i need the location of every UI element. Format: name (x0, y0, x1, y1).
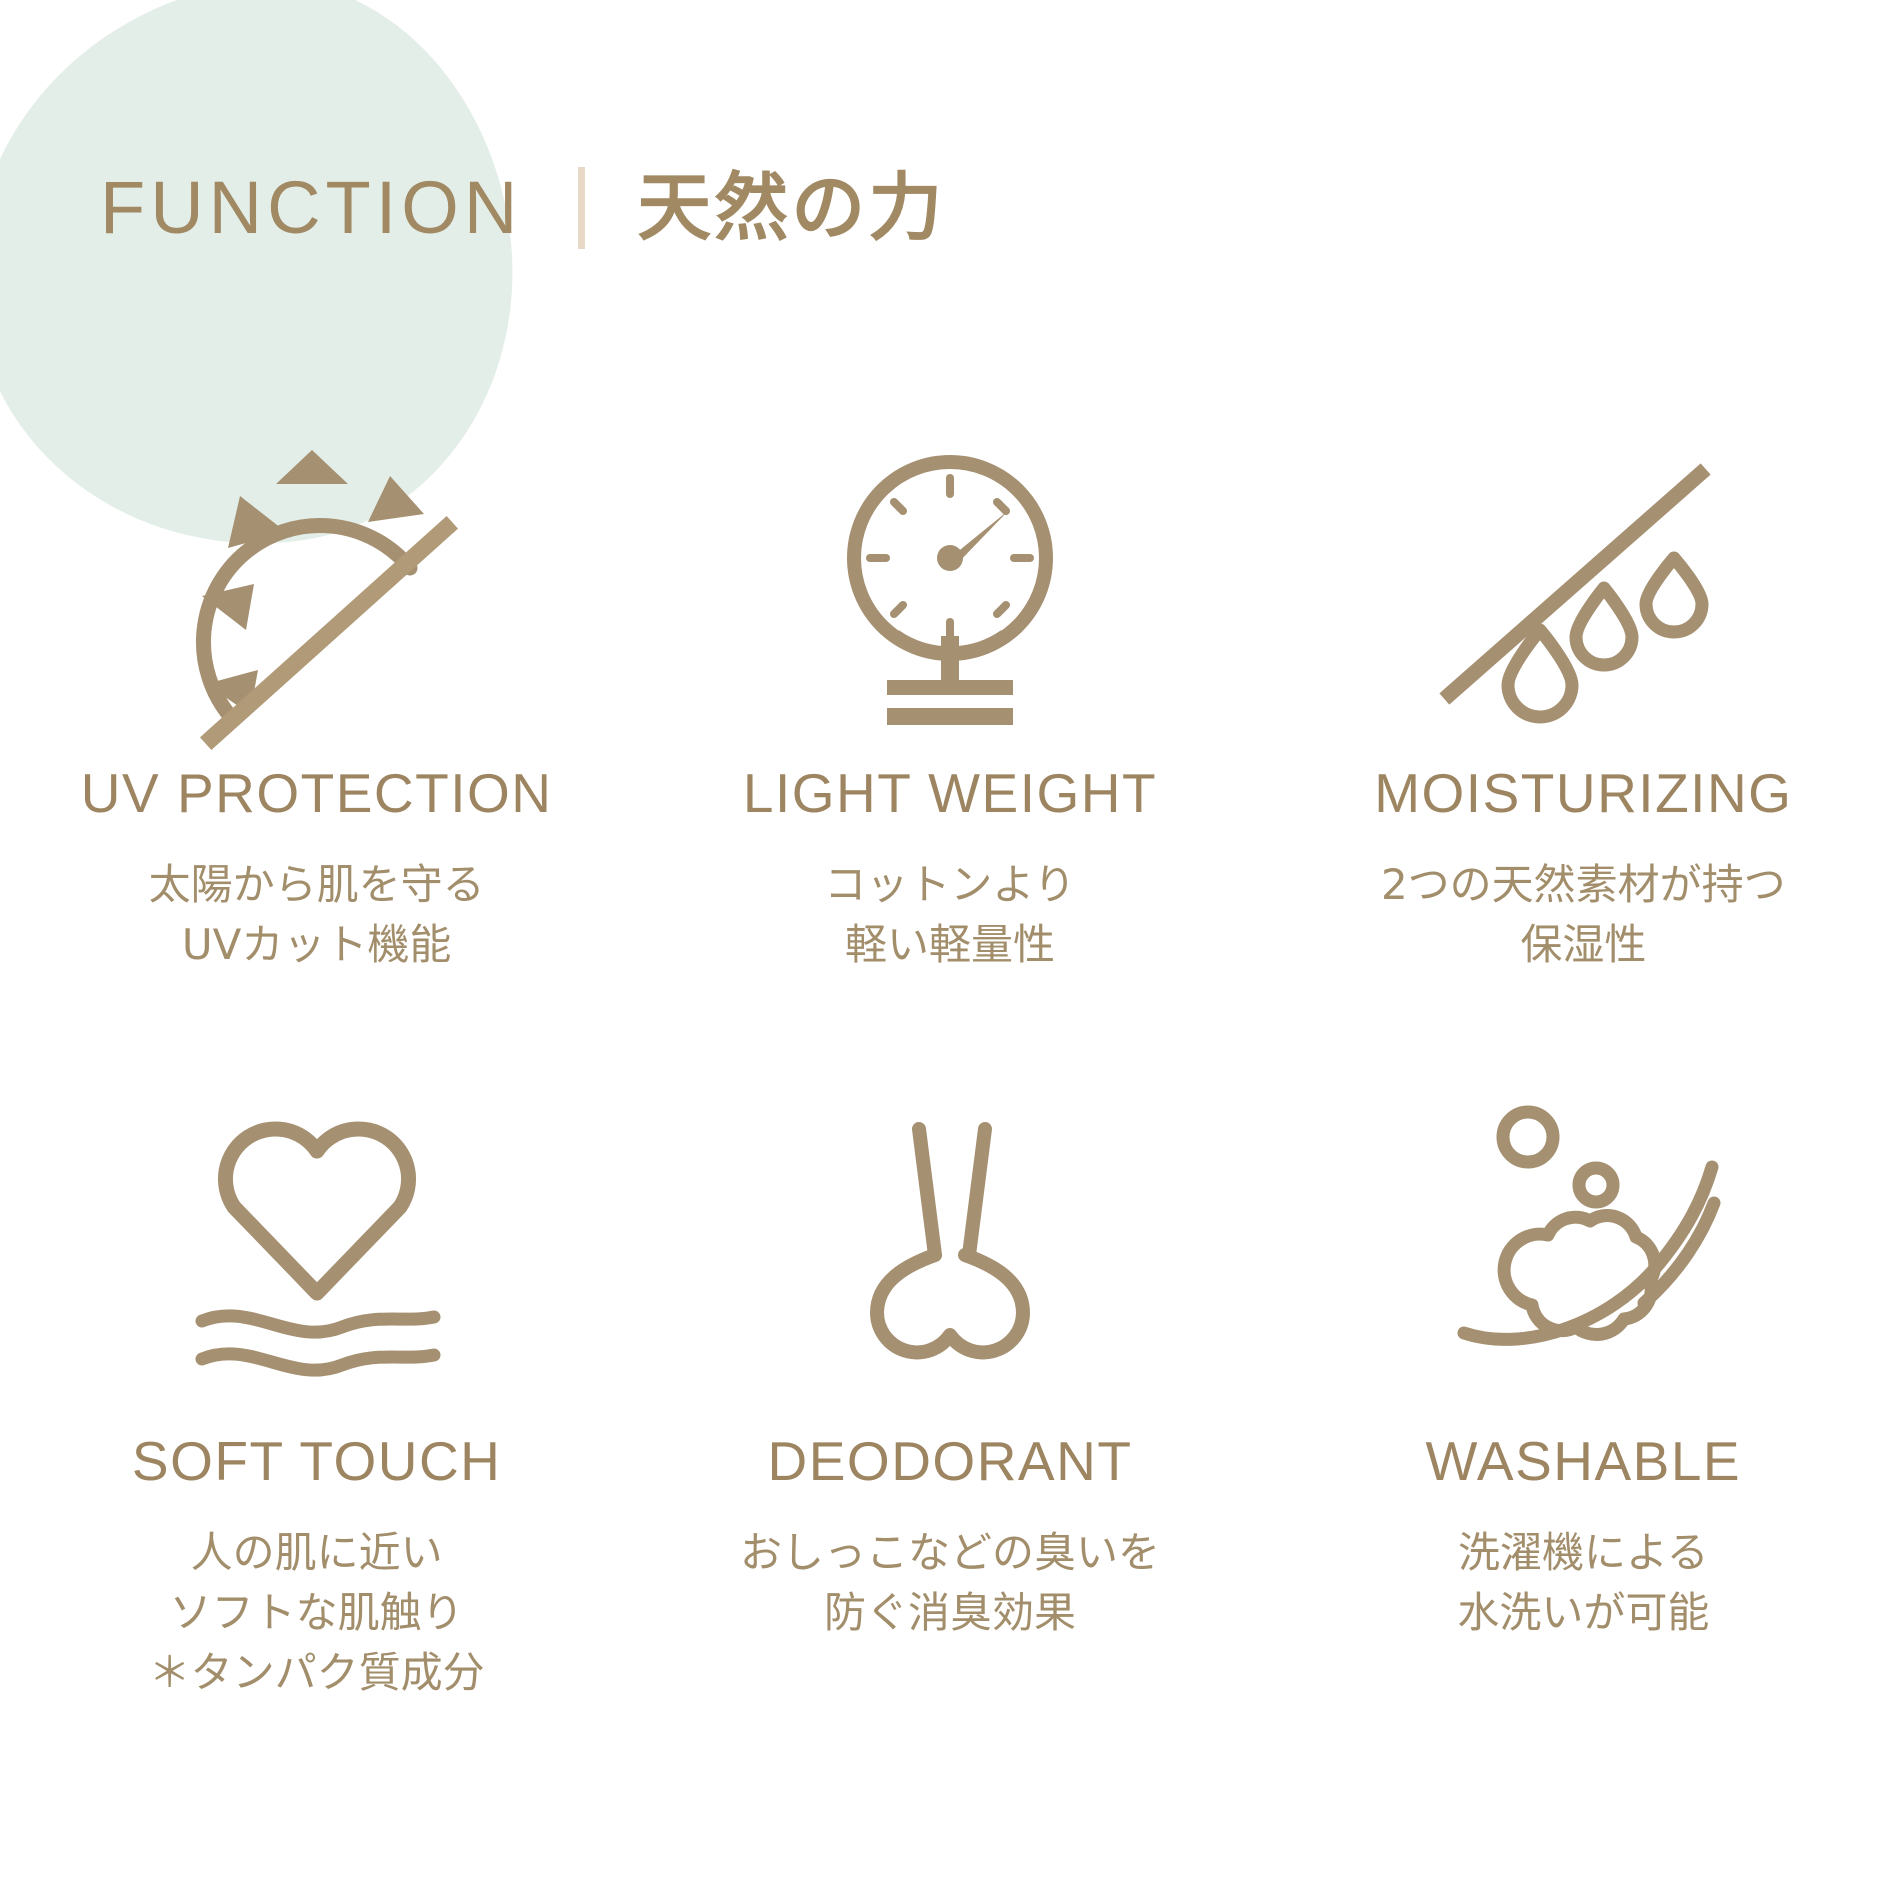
page-title-jp: 天然の力 (637, 171, 945, 245)
feature-description: 2つの天然素材が持つ 保湿性 (1381, 855, 1786, 974)
desc-line: ソフトな肌触り (149, 1583, 485, 1643)
feature-card-uv-protection: UV PROTECTION 太陽から肌を守る UVカット機能 (0, 430, 633, 974)
desc-line: ＊タンパク質成分 (149, 1643, 485, 1703)
desc-line: 洗濯機による (1457, 1523, 1709, 1583)
heart-waves-icon (152, 1084, 482, 1404)
feature-title: WASHABLE (1426, 1434, 1742, 1489)
feature-card-light-weight: LIGHT WEIGHT コットンより 軽い軽量性 (633, 430, 1266, 974)
function-infographic: FUNCTION 天然の力 UV PROTEC (0, 0, 1900, 1900)
desc-line: UVカット機能 (149, 915, 485, 975)
desc-line: コットンより (824, 855, 1075, 915)
water-droplets-icon (1418, 430, 1748, 760)
feature-title: SOFT TOUCH (132, 1434, 502, 1489)
feature-title: LIGHT WEIGHT (743, 766, 1157, 821)
desc-line: おしっこなどの臭いを (740, 1523, 1160, 1583)
feature-description: コットンより 軽い軽量性 (824, 855, 1075, 974)
desc-line: 保湿性 (1381, 915, 1786, 975)
feature-description: 人の肌に近い ソフトな肌触り ＊タンパク質成分 (149, 1523, 485, 1702)
feature-title: UV PROTECTION (81, 766, 553, 821)
desc-line: 太陽から肌を守る (149, 855, 485, 915)
nose-icon (785, 1084, 1115, 1404)
desc-line: 2つの天然素材が持つ (1381, 855, 1786, 915)
feature-card-washable: WASHABLE 洗濯機による 水洗いが可能 (1267, 1084, 1900, 1702)
feature-title: DEODORANT (768, 1434, 1133, 1489)
weighing-scale-icon (785, 430, 1115, 760)
feature-card-moisturizing: MOISTURIZING 2つの天然素材が持つ 保湿性 (1267, 430, 1900, 974)
feature-grid: UV PROTECTION 太陽から肌を守る UVカット機能 (0, 430, 1900, 1702)
page-title-en: FUNCTION (100, 171, 522, 245)
desc-line: 防ぐ消臭効果 (740, 1583, 1160, 1643)
header-divider (578, 167, 585, 249)
feature-title: MOISTURIZING (1374, 766, 1792, 821)
uv-sun-block-icon (152, 430, 482, 760)
desc-line: 人の肌に近い (149, 1523, 485, 1583)
feature-description: 太陽から肌を守る UVカット機能 (149, 855, 485, 974)
desc-line: 水洗いが可能 (1457, 1583, 1709, 1643)
desc-line: 軽い軽量性 (824, 915, 1075, 975)
feature-description: おしっこなどの臭いを 防ぐ消臭効果 (740, 1523, 1160, 1642)
feature-card-soft-touch: SOFT TOUCH 人の肌に近い ソフトな肌触り ＊タンパク質成分 (0, 1084, 633, 1702)
bubbles-splash-icon (1418, 1084, 1748, 1404)
page-header: FUNCTION 天然の力 (100, 160, 945, 256)
feature-description: 洗濯機による 水洗いが可能 (1457, 1523, 1709, 1642)
feature-card-deodorant: DEODORANT おしっこなどの臭いを 防ぐ消臭効果 (633, 1084, 1266, 1702)
